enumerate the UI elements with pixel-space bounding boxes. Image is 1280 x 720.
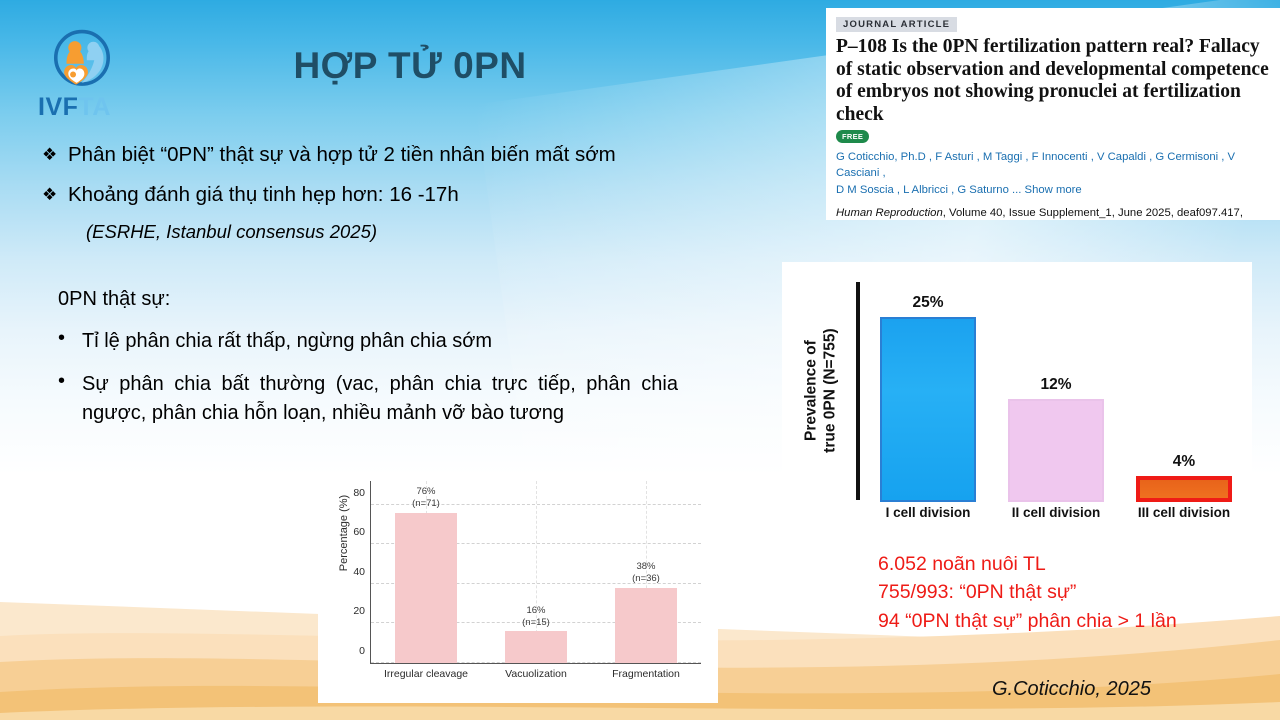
prevalence-bar-chart: Prevalence oftrue 0PN (N=755) 25% 12% 4%… — [782, 262, 1252, 534]
slide-title: HỢP TỬ 0PN — [0, 45, 820, 87]
bar-value-label: 16% (n=15) — [476, 605, 596, 629]
anomaly-bar-chart: Percentage (%) 0 20 40 60 80 76% — [318, 475, 718, 703]
diamond-bullet-icon: ❖ — [42, 182, 68, 205]
red-note-line: 755/993: “0PN thật sự” — [878, 578, 1258, 606]
bullet-text: Phân biệt “0PN” thật sự và hợp tử 2 tiền… — [68, 142, 616, 168]
bar-fragmentation — [615, 588, 677, 663]
journal-article-title: P–108 Is the 0PN fertilization pattern r… — [836, 36, 1270, 126]
chart-x-axis-labels: I cell division II cell division III cel… — [866, 505, 1244, 527]
chart-y-axis-line — [856, 282, 860, 500]
bar-value-label: 12% — [1040, 376, 1071, 394]
x-tick-label: III cell division — [1119, 505, 1249, 520]
bar-value-label: 25% — [912, 294, 943, 312]
value-n: (n=71) — [366, 498, 486, 510]
y-tick-label: 80 — [353, 487, 365, 499]
list-item-text: Sự phân chia bất thường (vac, phân chia … — [82, 370, 678, 428]
authors-line-1: G Coticchio, Ph.D , F Asturi , M Taggi ,… — [836, 149, 1270, 181]
chart-plot-area: 0 20 40 60 80 76% (n=71) 16% (n=15) 38% … — [370, 481, 701, 664]
logo-secondary-text: TA — [78, 93, 110, 121]
bar-value-label: 76% (n=71) — [366, 486, 486, 510]
free-access-badge: FREE — [836, 130, 869, 143]
bar-irregular-cleavage — [395, 513, 457, 663]
bullet-item: ❖ Phân biệt “0PN” thật sự và hợp tử 2 ti… — [42, 142, 782, 168]
y-tick-label: 0 — [359, 645, 365, 657]
red-note-line: 94 “0PN thật sự” phân chia > 1 lần — [878, 607, 1258, 635]
journal-citation: Human Reproduction, Volume 40, Issue Sup… — [836, 205, 1270, 220]
bar-vacuolization — [505, 631, 567, 663]
bar-column: 25% — [880, 280, 976, 502]
attribution-text: G.Coticchio, 2025 — [992, 678, 1151, 701]
section-heading: 0PN thật sự: — [58, 288, 678, 311]
x-tick-label: II cell division — [991, 505, 1121, 520]
dot-bullet-icon: • — [58, 370, 82, 393]
logo-primary-text: IVF — [38, 93, 78, 121]
bar-column: 4% — [1136, 280, 1232, 502]
value-n: (n=15) — [476, 617, 596, 629]
bar-value-label: 38% (n=36) — [586, 561, 706, 585]
top-bullet-list: ❖ Phân biệt “0PN” thật sự và hợp tử 2 ti… — [42, 142, 782, 243]
list-item-text: Tỉ lệ phân chia rất thấp, ngừng phân chi… — [82, 327, 492, 356]
authors-line-2[interactable]: D M Soscia , L Albricci , G Saturno ... … — [836, 182, 1270, 198]
chart-y-axis-label: Prevalence oftrue 0PN (N=755) — [794, 276, 840, 506]
x-tick-label: I cell division — [863, 505, 993, 520]
value-percent: 38% — [586, 561, 706, 573]
journal-name: Human Reproduction — [836, 207, 943, 219]
x-tick-label: Fragmentation — [581, 668, 711, 680]
y-tick-label: 40 — [353, 566, 365, 578]
true-0pn-section: 0PN thật sự: • Tỉ lệ phân chia rất thấp,… — [58, 288, 678, 442]
y-tick-label: 60 — [353, 526, 365, 538]
bar-iii-cell-division — [1136, 476, 1232, 502]
bar-ii-cell-division — [1008, 399, 1104, 502]
logo-wordmark: IVFTA — [38, 93, 132, 122]
y-tick-label: 20 — [353, 605, 365, 617]
list-item: • Tỉ lệ phân chia rất thấp, ngừng phân c… — [58, 327, 678, 356]
red-note-line: 6.052 noãn nuôi TL — [878, 550, 1258, 578]
bullet-text: Khoảng đánh giá thụ tinh hẹp hơn: 16 -17… — [68, 182, 459, 208]
diamond-bullet-icon: ❖ — [42, 142, 68, 165]
list-item: • Sự phân chia bất thường (vac, phân chi… — [58, 370, 678, 428]
value-percent: 76% — [366, 486, 486, 498]
consensus-source-note: (ESRHE, Istanbul consensus 2025) — [86, 221, 782, 243]
citation-details: , Volume 40, Issue Supplement_1, June 20… — [943, 207, 1243, 219]
bar-column: 12% — [1008, 280, 1104, 502]
value-percent: 16% — [476, 605, 596, 617]
red-summary-notes: 6.052 noãn nuôi TL 755/993: “0PN thật sự… — [878, 550, 1258, 635]
journal-article-card: JOURNAL ARTICLE P–108 Is the 0PN fertili… — [826, 8, 1280, 220]
bar-value-label: 4% — [1173, 453, 1195, 471]
chart-y-axis-label: Percentage (%) — [338, 463, 350, 603]
dot-bullet-icon: • — [58, 327, 82, 350]
y-axis-label-text: Prevalence oftrue 0PN (N=755) — [802, 286, 839, 496]
bullet-item: ❖ Khoảng đánh giá thụ tinh hẹp hơn: 16 -… — [42, 182, 782, 208]
journal-authors[interactable]: G Coticchio, Ph.D , F Asturi , M Taggi ,… — [836, 149, 1270, 197]
journal-article-tag: JOURNAL ARTICLE — [836, 17, 957, 32]
bar-i-cell-division — [880, 317, 976, 502]
slide-canvas: IVFTA HỢP TỬ 0PN ❖ Phân biệt “0PN” thật … — [0, 0, 1280, 720]
value-n: (n=36) — [586, 573, 706, 585]
chart-bars: 25% 12% 4% — [866, 280, 1244, 502]
